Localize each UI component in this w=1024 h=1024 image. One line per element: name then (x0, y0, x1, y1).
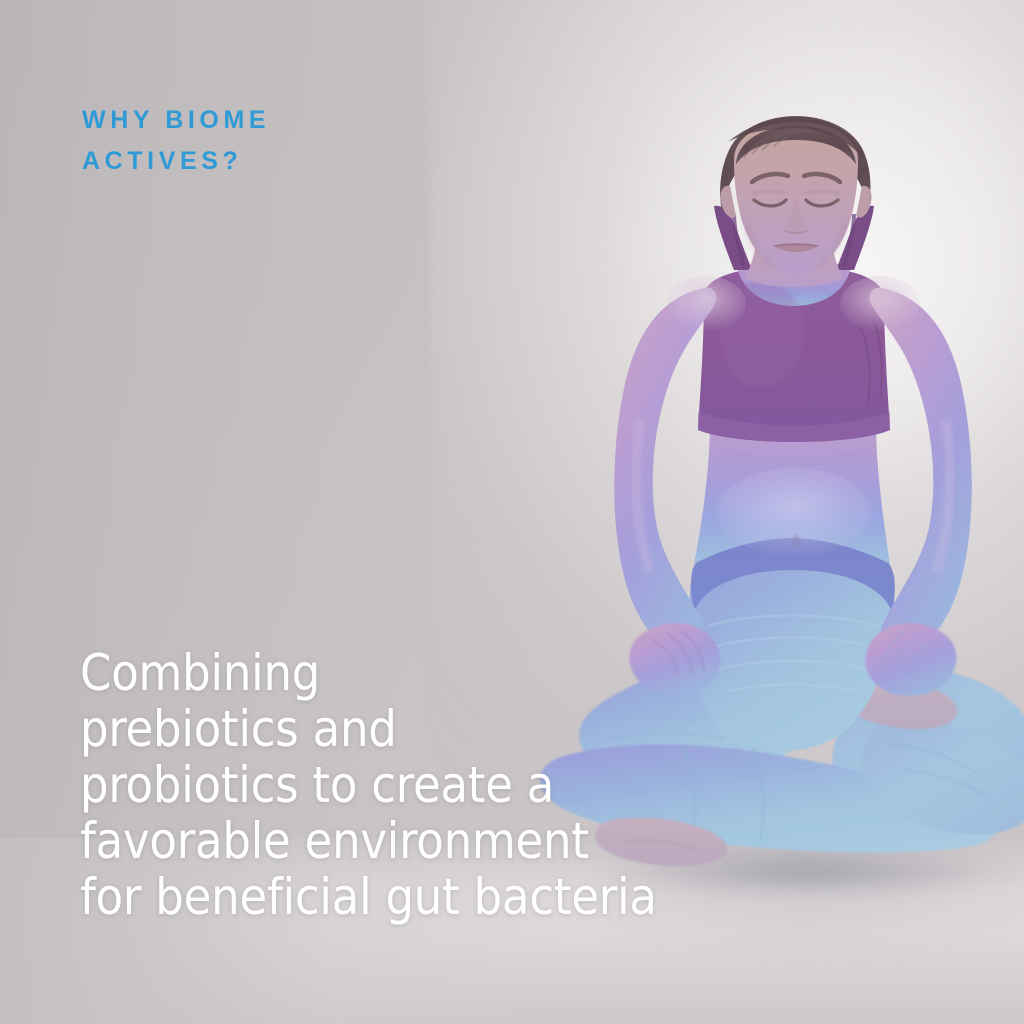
eyebrow-heading: Why Biome Actives? (82, 100, 502, 182)
promo-canvas: Why Biome Actives? Combining prebiotics … (0, 0, 1024, 1024)
headline-copy: Combining prebiotics and probiotics to c… (80, 645, 680, 925)
